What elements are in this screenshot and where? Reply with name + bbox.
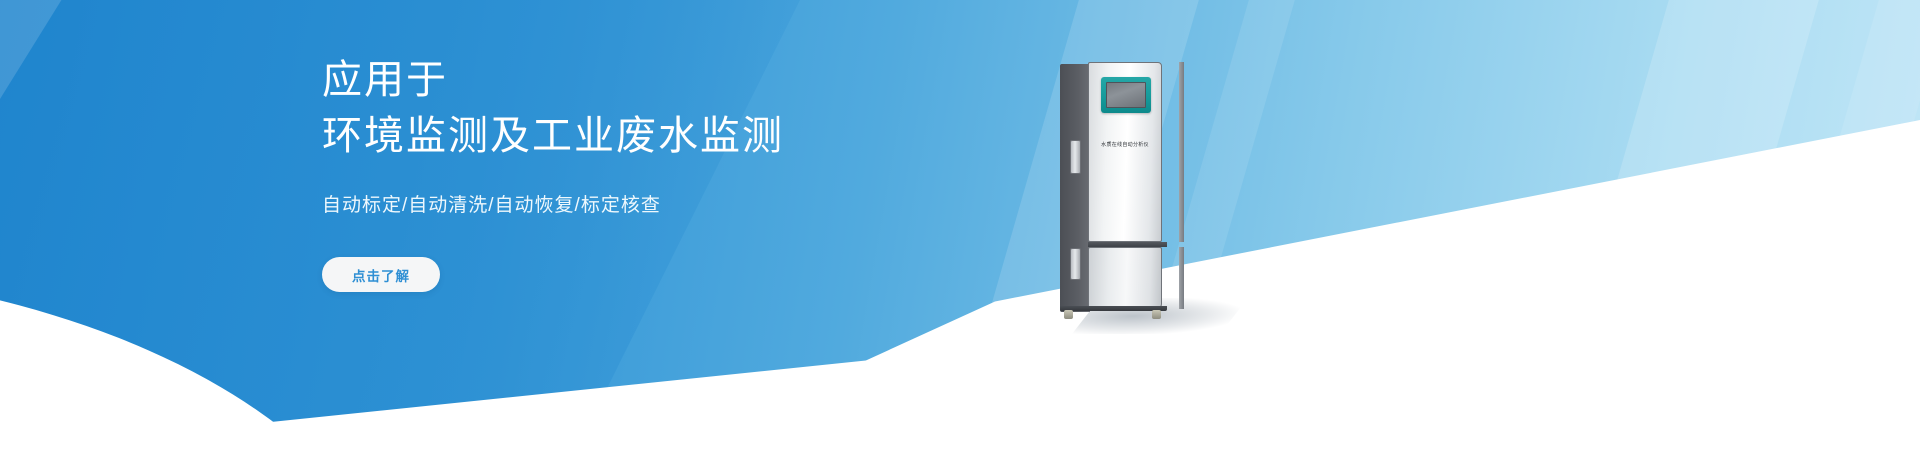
cabinet-caster-left xyxy=(1064,310,1073,319)
product-image-water-analyzer: 水质在线自动分析仪 xyxy=(1060,62,1180,314)
hero-subtitle: 自动标定/自动清洗/自动恢复/标定核查 xyxy=(322,190,1082,217)
hero-headline-line1: 应用于 xyxy=(322,52,1082,108)
cabinet-lower-door-edge xyxy=(1179,247,1184,309)
display-bezel xyxy=(1101,77,1151,113)
hero-headline-line2: 环境监测及工业废水监测 xyxy=(322,108,1082,164)
hero-banner: 应用于 环境监测及工业废水监测 自动标定/自动清洗/自动恢复/标定核查 点击了解… xyxy=(0,0,1920,450)
product-label: 水质在线自动分析仪 xyxy=(1089,141,1161,148)
display-screen xyxy=(1106,82,1146,108)
cabinet-upper-door-edge xyxy=(1179,62,1184,242)
cabinet-base xyxy=(1060,306,1167,311)
cabinet-lower-handle-icon xyxy=(1070,248,1081,280)
cabinet-upper-door: 水质在线自动分析仪 xyxy=(1088,62,1162,242)
cabinet-upper-handle-icon xyxy=(1070,140,1081,174)
learn-more-button[interactable]: 点击了解 xyxy=(322,257,440,292)
cabinet-lower-door xyxy=(1088,247,1162,309)
hero-copy-block: 应用于 环境监测及工业废水监测 自动标定/自动清洗/自动恢复/标定核查 点击了解 xyxy=(322,52,1082,292)
cabinet-caster-right xyxy=(1152,310,1161,319)
